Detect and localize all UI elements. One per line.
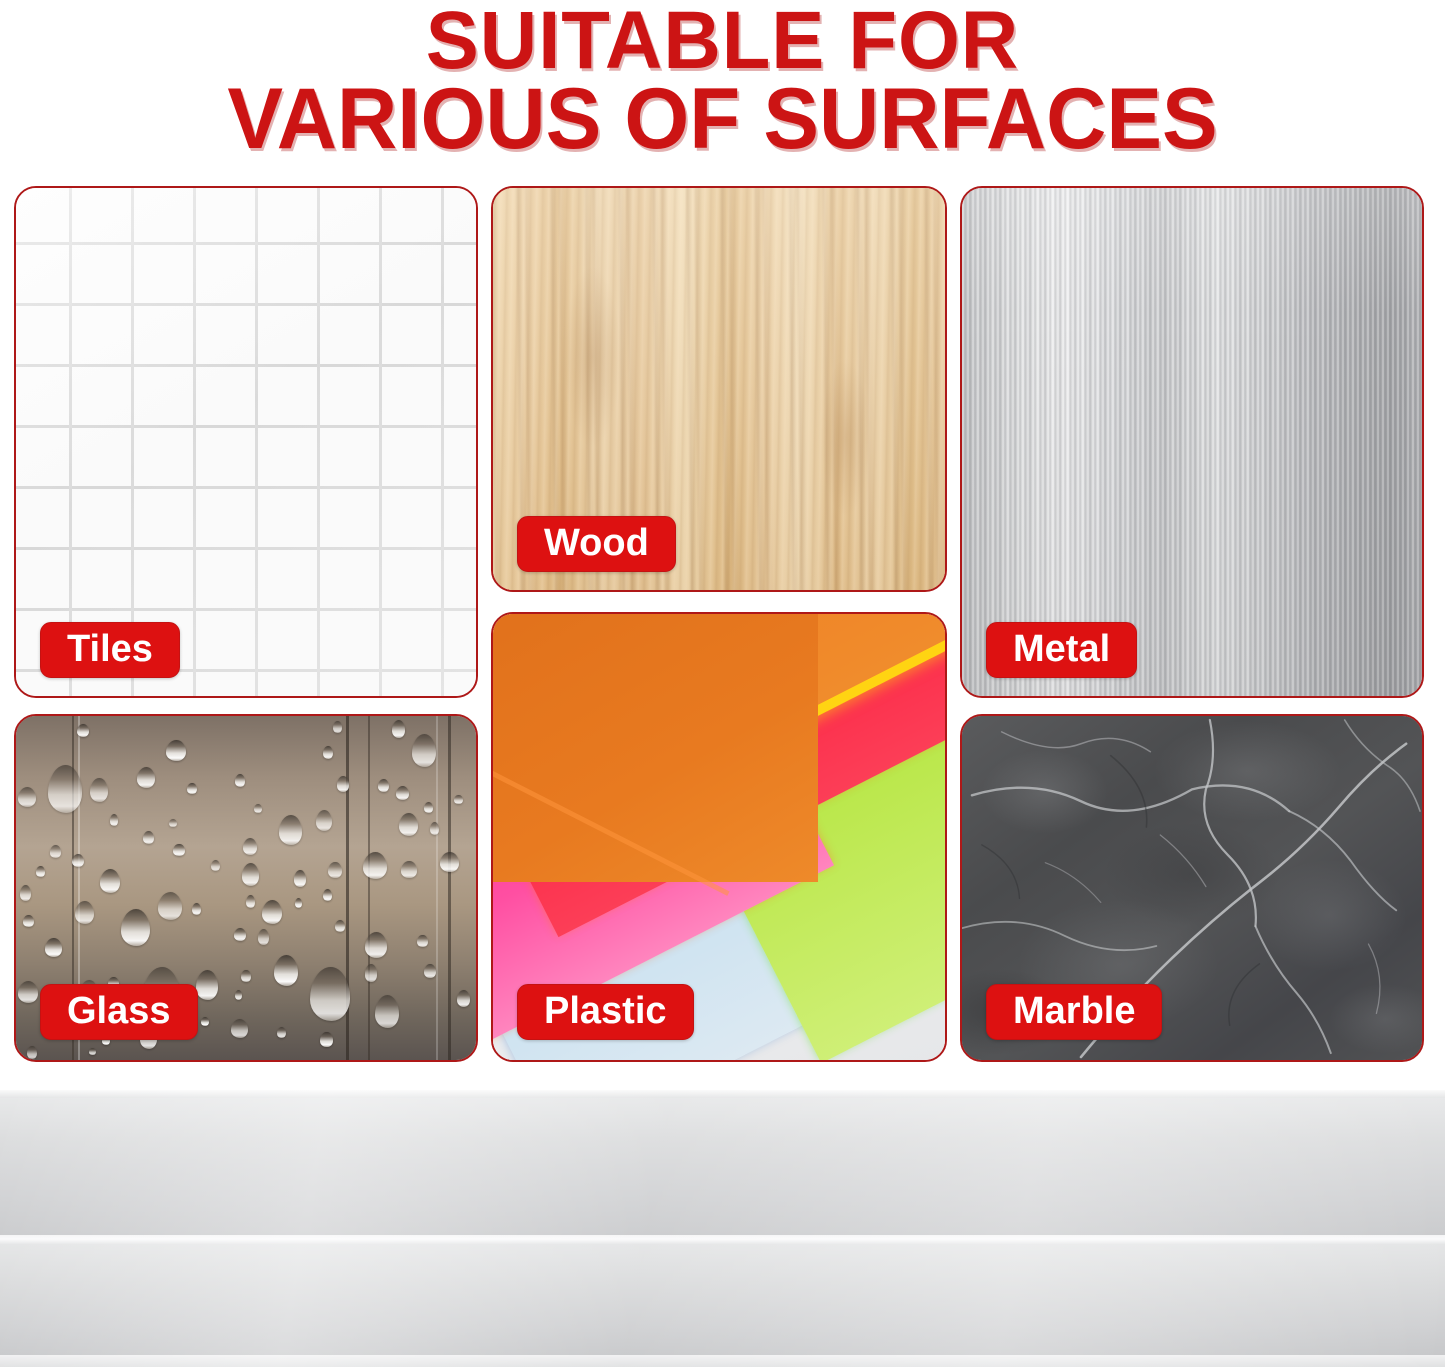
page-title-line-1: SUITABLE FOR xyxy=(22,2,1424,80)
wall-band-lower xyxy=(0,1245,1445,1355)
water-droplet xyxy=(100,869,121,893)
water-droplet xyxy=(365,964,378,981)
surface-label-wood: Wood xyxy=(517,516,676,572)
water-droplet xyxy=(235,990,242,1000)
water-droplet xyxy=(23,915,34,928)
water-droplet xyxy=(235,774,245,787)
water-droplet xyxy=(457,990,470,1007)
water-droplet xyxy=(121,909,150,946)
water-droplet xyxy=(440,852,459,872)
water-droplet xyxy=(75,901,94,925)
water-droplet xyxy=(18,981,38,1003)
water-droplet xyxy=(378,779,389,792)
water-droplet xyxy=(241,970,250,982)
surface-label-tiles: Tiles xyxy=(40,622,180,678)
water-droplet xyxy=(27,1046,37,1060)
water-droplet xyxy=(399,813,418,836)
water-droplet xyxy=(375,995,399,1028)
water-droplet xyxy=(316,810,332,831)
acrylic-sheet-orange-face xyxy=(493,614,818,882)
water-droplet xyxy=(254,804,262,814)
water-droplet xyxy=(166,740,186,762)
wall-band-upper xyxy=(0,1098,1445,1235)
water-droplet xyxy=(412,734,436,767)
water-droplet xyxy=(430,822,439,835)
water-droplet xyxy=(18,787,36,807)
surface-grid: Tiles Wood Metal Glass Plastic xyxy=(14,186,1424,1062)
water-droplet xyxy=(90,778,108,802)
wall-bottom-edge xyxy=(0,1355,1445,1367)
water-droplet xyxy=(77,724,89,737)
water-droplet xyxy=(211,860,220,871)
water-droplet xyxy=(20,885,32,901)
water-droplet xyxy=(242,863,260,886)
water-droplet xyxy=(323,889,333,901)
water-droplet xyxy=(192,903,201,915)
water-droplet xyxy=(158,892,182,920)
water-droplet xyxy=(231,1019,248,1038)
water-droplet xyxy=(424,802,434,813)
water-droplet xyxy=(401,861,417,877)
wall-top-edge xyxy=(0,1090,1445,1098)
water-droplet xyxy=(110,814,118,825)
water-droplet xyxy=(320,1032,332,1047)
surface-label-metal: Metal xyxy=(986,622,1137,678)
water-droplet xyxy=(243,838,257,855)
water-droplet xyxy=(337,776,350,792)
page-title: SUITABLE FOR VARIOUS OF SURFACES xyxy=(22,2,1424,158)
water-droplet xyxy=(169,819,177,828)
water-droplet xyxy=(396,786,409,800)
water-droplet xyxy=(417,935,427,948)
water-droplet xyxy=(392,720,405,738)
water-droplet xyxy=(246,895,255,908)
water-droplet xyxy=(262,900,282,924)
water-droplet xyxy=(323,746,333,759)
water-droplet xyxy=(36,866,45,876)
water-droplet xyxy=(45,938,61,957)
water-droplet xyxy=(333,721,342,734)
water-droplet xyxy=(295,898,302,908)
water-droplet xyxy=(196,970,219,1000)
water-droplet xyxy=(50,845,62,858)
water-droplet xyxy=(454,795,463,805)
water-droplet xyxy=(173,844,184,856)
water-droplet xyxy=(310,967,350,1021)
water-droplet xyxy=(277,1027,286,1038)
page-title-line-2: VARIOUS OF SURFACES xyxy=(22,80,1424,158)
water-droplet xyxy=(294,870,306,887)
water-droplet xyxy=(234,928,246,941)
water-droplet xyxy=(274,955,298,986)
water-droplet xyxy=(187,783,196,794)
water-droplet xyxy=(363,852,387,879)
surface-label-marble: Marble xyxy=(986,984,1162,1040)
bottom-wall-panel xyxy=(0,1090,1445,1367)
tiles-texture xyxy=(16,188,476,696)
water-droplet xyxy=(143,831,154,844)
water-droplet xyxy=(89,1048,96,1056)
water-droplet xyxy=(258,929,270,945)
surface-label-plastic: Plastic xyxy=(517,984,694,1040)
water-droplet xyxy=(424,964,436,978)
water-droplet xyxy=(365,932,387,958)
water-droplet xyxy=(328,862,342,878)
water-droplet xyxy=(335,920,345,932)
water-droplet xyxy=(72,854,84,867)
water-droplet xyxy=(201,1017,209,1027)
surface-label-glass: Glass xyxy=(40,984,198,1040)
metal-texture xyxy=(962,188,1422,696)
wall-groove-line xyxy=(0,1235,1445,1245)
water-droplet xyxy=(137,767,155,788)
water-droplet xyxy=(48,765,82,813)
water-droplet xyxy=(279,815,302,845)
